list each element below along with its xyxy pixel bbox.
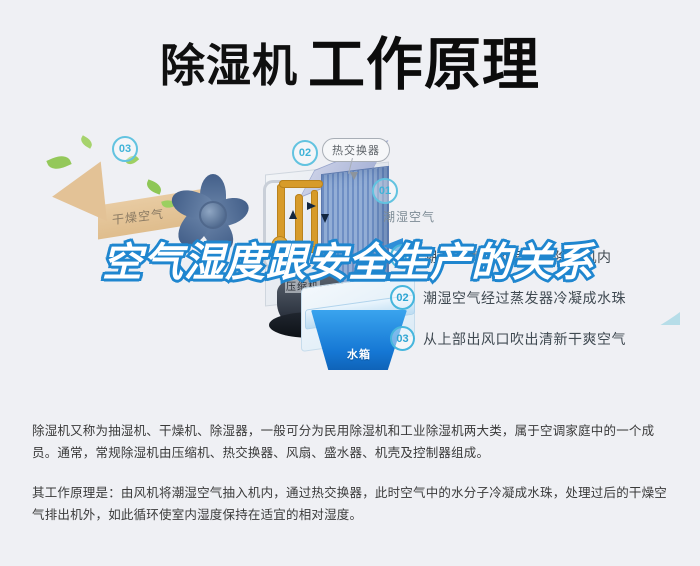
humid-air-label: 潮湿空气: [383, 208, 435, 225]
legend-text: 从上部出风口吹出清新干爽空气: [423, 329, 626, 349]
page-title-part-2: 工作原理: [308, 37, 540, 94]
page-title: 除湿机 工作原理: [0, 22, 700, 108]
legend-number: 03: [390, 326, 415, 351]
flow-arrow-up-icon: [289, 210, 297, 219]
copper-coil: [295, 194, 303, 246]
water-tank-label: 水箱: [347, 346, 371, 362]
body-paragraph-2: 其工作原理是：由风机将潮湿空气抽入机内，通过热交换器，此时空气中的水分子冷凝成水…: [32, 482, 672, 526]
flow-arrow-down-icon: [321, 214, 329, 223]
body-copy: 除湿机又称为抽湿机、干燥机、除湿器，一般可分为民用除湿机和工业除湿机两大类，属于…: [32, 420, 672, 526]
badge-dry-air: 03: [112, 136, 138, 162]
flow-arrow-right-icon: [307, 202, 316, 210]
leaf-icon: [79, 135, 94, 148]
copper-coil: [279, 180, 323, 188]
legend-item-02: 02 潮湿空气经过蒸发器冷凝成水珠: [390, 285, 690, 310]
fan-hub: [199, 201, 227, 229]
callout-pointer-icon: [350, 172, 358, 180]
dry-air-arrow-head: [49, 161, 107, 226]
body-paragraph-1: 除湿机又称为抽湿机、干燥机、除湿器，一般可分为民用除湿机和工业除湿机两大类，属于…: [32, 420, 672, 464]
heat-exchanger-callout: 热交换器: [322, 138, 390, 162]
badge-heat-exchanger: 02: [292, 140, 318, 166]
infographic-page: 除湿机 工作原理 干燥空气: [0, 0, 700, 566]
overlay-headline: 空气湿度跟安全生产的关系: [102, 243, 622, 283]
legend-text: 潮湿空气经过蒸发器冷凝成水珠: [423, 288, 626, 308]
legend-number: 02: [390, 285, 415, 310]
legend-item-03: 03 从上部出风口吹出清新干爽空气: [390, 326, 690, 351]
page-title-part-1: 除湿机: [160, 43, 298, 88]
badge-humid-air: 01: [372, 178, 398, 204]
copper-coil: [311, 190, 318, 248]
